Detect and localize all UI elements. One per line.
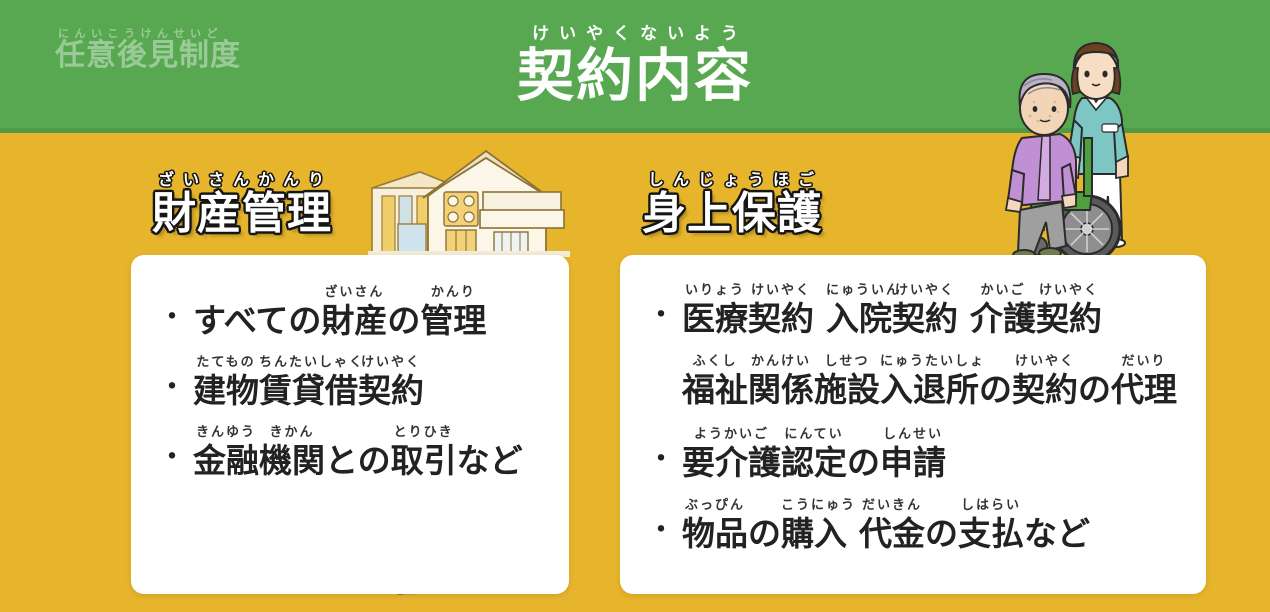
bullet-marker: ・ [157,373,187,403]
list-item: ・きんゆう金融きかん機関とのとりひき取引など [157,443,523,477]
ruby-base-text: 入退所 [880,370,979,409]
ruby-segment: だいきん代金 [859,517,925,550]
ruby-segment: しんせい申請 [880,446,946,479]
ruby-segment: かんけい関係 [748,373,814,406]
ruby-segment: の [847,446,880,479]
house-illustration [368,148,570,260]
ruby-segment: きかん機関 [259,444,325,477]
ruby-annotation: しはらい [958,499,1024,512]
ruby-base-text: など [457,441,523,480]
ruby-annotation: きんゆう [193,426,259,439]
ruby-segment: けいやく契約 [1012,373,1078,406]
ruby-segment: との [325,444,391,477]
ruby-annotation: ふくし [682,355,748,368]
ruby-annotation: こうにゅう [781,499,847,512]
ruby-base-text: など [1024,514,1090,553]
ruby-base-text: 契約 [358,371,424,410]
ruby-base-text: の [748,514,781,553]
ruby-base-text: 契約 [1012,370,1078,409]
list-item: ・ふくし福祉かんけい関係しせつ施設にゅうたいしょ入退所のけいやく契約のだいり代理 [646,372,1177,406]
ruby-base-text: の [1078,370,1111,409]
ruby-segment: だいり代理 [1111,373,1177,406]
ruby-segment: しせつ施設 [814,373,880,406]
ruby-annotation: けいやく [1036,284,1102,297]
ruby-annotation: けいやく [892,284,958,297]
list-item: ・いりょう医療けいやく契約にゅういん入院けいやく契約かいご介護けいやく契約 [646,301,1102,335]
ruby-annotation: にゅうたいしょ [880,355,979,368]
list-item: ・ぶっぴん物品のこうにゅう購入だいきん代金のしはらい支払など [646,516,1090,550]
caregiver-wheelchair-illustration [988,24,1168,280]
ruby-segment: ようかいご要介護 [682,446,781,479]
ruby-base-text: 介護 [970,299,1036,338]
ruby-base-text: 要介護 [682,443,781,482]
ruby-base-text: 機関 [259,441,325,480]
ruby-base-text: 契約 [748,299,814,338]
bullet-marker: ・ [157,303,187,333]
ruby-base-text: との [325,441,391,480]
ruby-base-text: 契約 [892,299,958,338]
ruby-segment: かいご介護 [970,302,1036,335]
ruby-segment: けいやく契約 [892,302,958,335]
ruby-annotation: けいやく [1012,355,1078,368]
ruby-base-text: 支払 [958,514,1024,553]
ruby-base-text: 施設 [814,370,880,409]
card-zaisan-kanri: ・すべてのざいさん財産のかんり管理・たてもの建物ちんたいしゃく賃貸借けいやく契約… [131,255,569,594]
ruby-base-text: の [925,514,958,553]
ruby-annotation: しんせい [880,428,946,441]
ruby-base-text: 購入 [781,514,847,553]
ruby-segment: にんてい認定 [781,446,847,479]
ruby-annotation: ようかいご [682,428,781,441]
ruby-base-text: 物品 [682,514,748,553]
ruby-segment: けいやく契約 [358,374,424,407]
ruby-base-text: 代金 [859,514,925,553]
ruby-base-text: 医療 [682,299,748,338]
ruby-segment: ふくし福祉 [682,373,748,406]
ruby-segment: にゅういん入院 [826,302,892,335]
ruby-segment: ちんたいしゃく賃貸借 [259,374,358,407]
ruby-segment: こうにゅう購入 [781,517,847,550]
ruby-segment: とりひき取引 [391,444,457,477]
ruby-annotation: たてもの [193,356,259,369]
ruby-segment: など [1024,517,1090,550]
ruby-base-text: 契約 [1036,299,1102,338]
ruby-annotation: にんてい [781,428,847,441]
ruby-segment: けいやく契約 [748,302,814,335]
ruby-annotation: しせつ [814,355,880,368]
ruby-base-text: 入院 [826,299,892,338]
ruby-segment: の [1078,373,1111,406]
ruby-annotation: けいやく [748,284,814,297]
list-item: ・ようかいご要介護にんてい認定のしんせい申請 [646,445,946,479]
ruby-base-text: 財産 [321,301,387,340]
column-heading-ruby: ざいさんかんり [158,172,333,188]
column-heading-shinjo-hogo: しんじょうほご 身上保護 [642,172,823,236]
ruby-segment: すべての [193,304,321,337]
ruby-base-text: の [979,370,1012,409]
ruby-annotation: だいり [1111,355,1177,368]
ruby-base-text: 取引 [391,441,457,480]
column-heading-text: 財産管理 [152,192,333,236]
slide-root: にんいこうけんせいど 任意後見制度 けいやくないよう 契約内容 ざいさんかんり … [0,0,1270,612]
ruby-segment: ざいさん財産 [321,304,387,337]
bullet-marker: ・ [646,301,676,331]
ruby-annotation: かいご [970,284,1036,297]
ruby-segment: の [387,304,420,337]
ruby-annotation: かんり [420,286,486,299]
ruby-annotation: きかん [259,426,325,439]
card-shinjo-hogo: ・いりょう医療けいやく契約にゅういん入院けいやく契約かいご介護けいやく契約・ふく… [620,255,1206,594]
ruby-annotation: かんけい [748,355,814,368]
list-item: ・すべてのざいさん財産のかんり管理 [157,303,486,337]
bullet-marker: ・ [646,445,676,475]
ruby-base-text: 申請 [880,443,946,482]
ruby-segment: の [979,373,1012,406]
ruby-base-text: 代理 [1111,370,1177,409]
ruby-segment: かんり管理 [420,304,486,337]
ruby-segment: ぶっぴん物品 [682,517,748,550]
ruby-base-text: 認定 [781,443,847,482]
ruby-base-text: 管理 [420,301,486,340]
column-heading-ruby: しんじょうほご [648,172,823,188]
ruby-base-text: 金融 [193,441,259,480]
ruby-segment: の [925,517,958,550]
ruby-segment: たてもの建物 [193,374,259,407]
bullet-marker: ・ [157,443,187,473]
ruby-annotation: ちんたいしゃく [259,356,358,369]
ruby-base-text: の [847,443,880,482]
ruby-base-text: の [387,301,420,340]
ruby-segment: の [748,517,781,550]
ruby-annotation: ざいさん [321,286,387,299]
ruby-annotation: とりひき [391,426,457,439]
list-item: ・たてもの建物ちんたいしゃく賃貸借けいやく契約 [157,373,424,407]
ruby-annotation: ぶっぴん [682,499,748,512]
column-heading-zaisan-kanri: ざいさんかんり 財産管理 [152,172,333,236]
ruby-annotation: にゅういん [826,284,892,297]
ruby-segment: にゅうたいしょ入退所 [880,373,979,406]
ruby-annotation: けいやく [358,356,424,369]
ruby-segment: きんゆう金融 [193,444,259,477]
ruby-segment: いりょう医療 [682,302,748,335]
ruby-segment: けいやく契約 [1036,302,1102,335]
ruby-segment: しはらい支払 [958,517,1024,550]
ruby-base-text: 福祉 [682,370,748,409]
ruby-annotation: だいきん [859,499,925,512]
ruby-segment: など [457,444,523,477]
ruby-base-text: すべての [193,301,321,340]
ruby-annotation: いりょう [682,284,748,297]
bullet-marker: ・ [646,516,676,546]
column-heading-text: 身上保護 [642,192,823,236]
ruby-base-text: 建物 [193,371,259,410]
ruby-base-text: 関係 [748,370,814,409]
ruby-base-text: 賃貸借 [259,371,358,410]
